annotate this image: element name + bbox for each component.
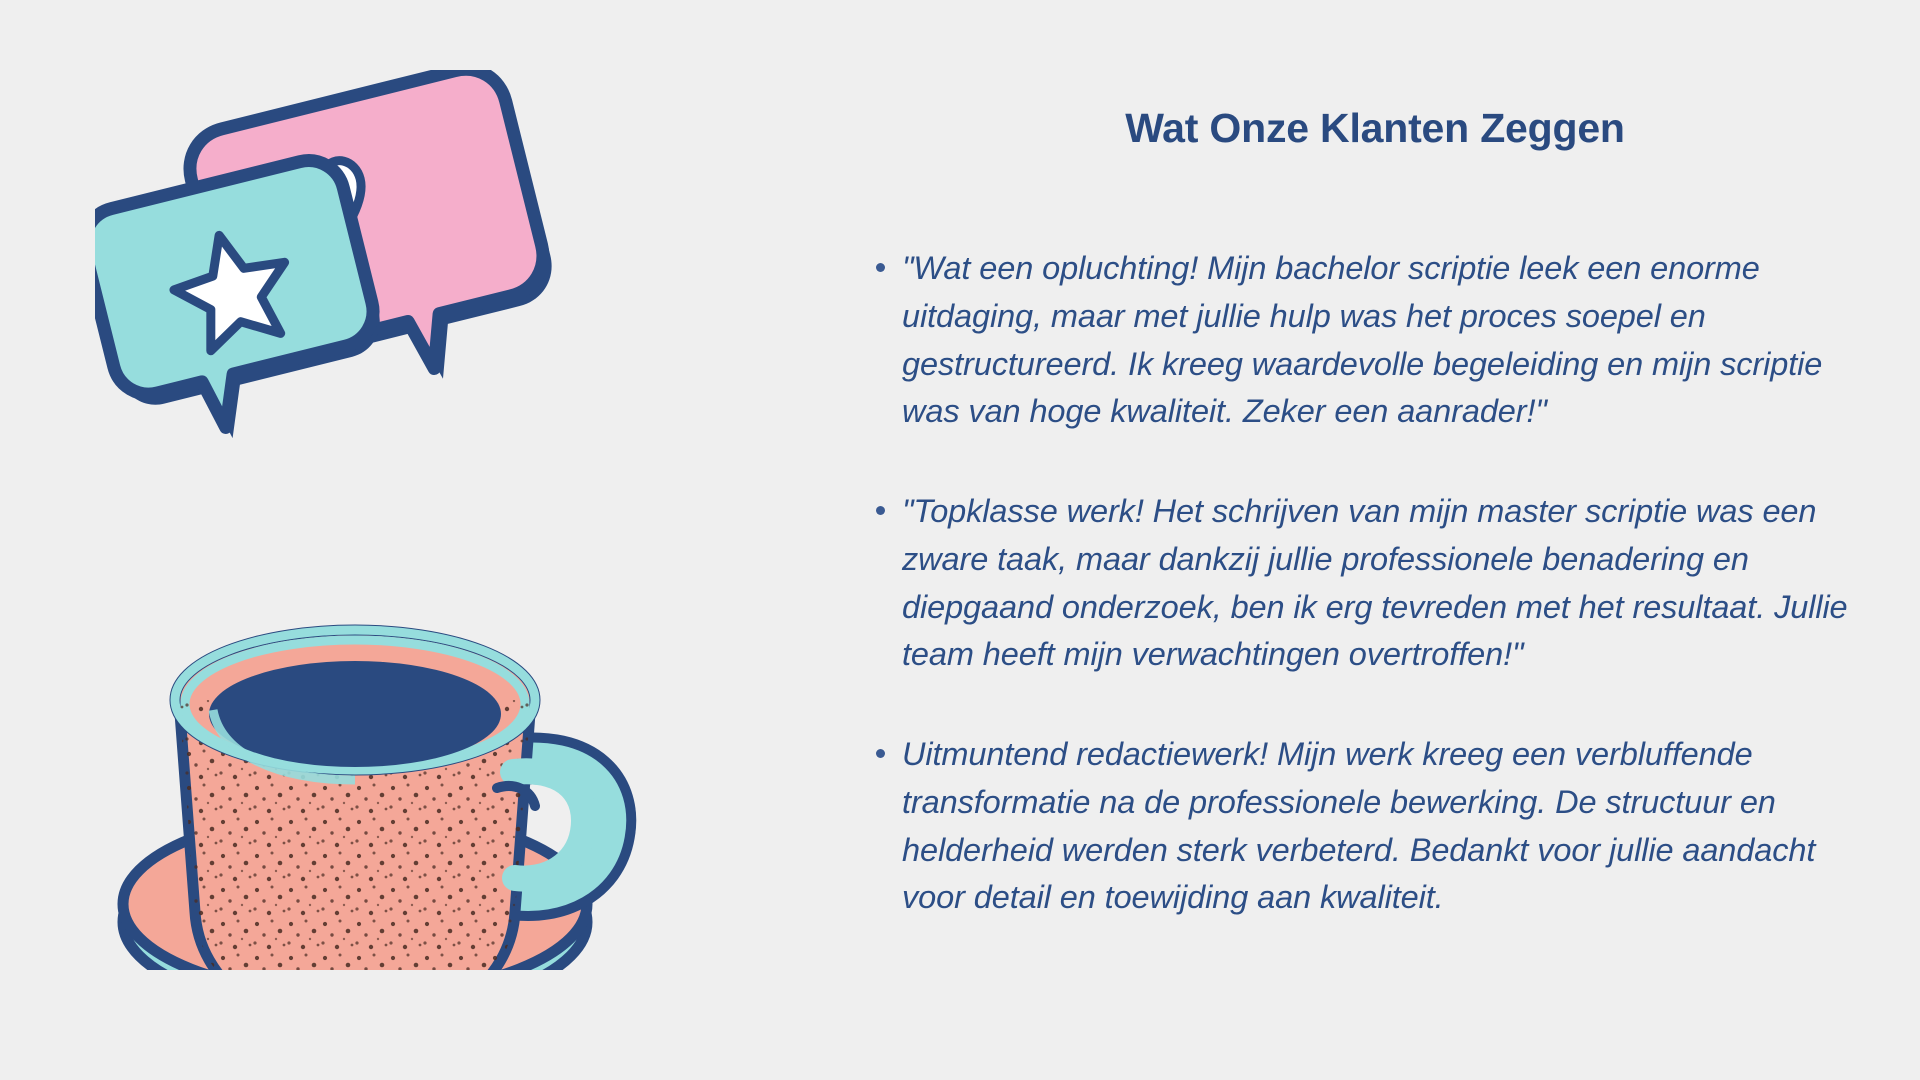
testimonial-item: "Topklasse werk! Het schrijven van mijn … (838, 488, 1868, 679)
coffee-surface (209, 661, 501, 767)
testimonial-list: "Wat een opluchting! Mijn bachelor scrip… (838, 245, 1868, 922)
page-title: Wat Onze Klanten Zeggen (940, 105, 1810, 152)
testimonial-item: "Wat een opluchting! Mijn bachelor scrip… (838, 245, 1868, 436)
testimonial-text: Uitmuntend redactiewerk! Mijn werk kreeg… (902, 736, 1815, 915)
bullet-dot-icon (876, 263, 885, 272)
illustration-column (0, 0, 820, 1080)
speech-bubbles-group (95, 70, 573, 462)
bullet-dot-icon (876, 506, 885, 515)
content-column: Wat Onze Klanten Zeggen "Wat een oplucht… (820, 0, 1920, 1080)
speech-bubbles-and-teacup-illustration (95, 70, 655, 970)
teacup-group (123, 630, 610, 970)
testimonial-text: "Topklasse werk! Het schrijven van mijn … (902, 493, 1848, 672)
teacup (172, 630, 610, 970)
testimonial-item: Uitmuntend redactiewerk! Mijn werk kreeg… (838, 731, 1868, 922)
testimonial-text: "Wat een opluchting! Mijn bachelor scrip… (902, 250, 1822, 429)
testimonials-page: Wat Onze Klanten Zeggen "Wat een oplucht… (0, 0, 1920, 1080)
bullet-dot-icon (876, 749, 885, 758)
